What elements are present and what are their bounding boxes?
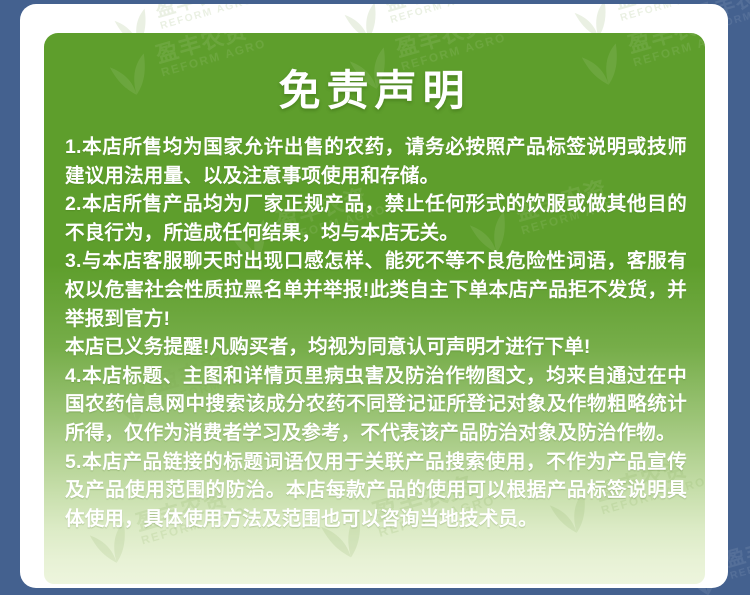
- watermark-cn: 盈丰农资: [153, 4, 251, 22]
- watermark-cn: 盈丰农资: [626, 33, 705, 58]
- watermark-cn: 盈丰农资: [613, 4, 711, 14]
- watermark-en: REFORM AGRO: [389, 4, 484, 26]
- disclaimer-text-block: 1.本店所售均为国家允许出售的农药，请务必按照产品标签说明或技师建议用法用量、以…: [65, 133, 687, 533]
- green-panel: 盈丰农资 REFORM AGRO 盈丰农资 REFORM AGRO: [44, 33, 705, 584]
- page-root: 盈丰农资 REFORM AGRO 盈丰农资 REFORM AGRO: [0, 0, 750, 595]
- watermark-en: REFORM AGRO: [619, 4, 714, 24]
- watermark-en: REFORM AGRO: [159, 4, 254, 32]
- disclaimer-paragraph-1: 1.本店所售均为国家允许出售的农药，请务必按照产品标签说明或技师建议用法用量、以…: [65, 133, 687, 190]
- disclaimer-paragraph-4: 本店已义务提醒!凡购买者，均视为同意认可声明才进行下单!: [65, 333, 687, 362]
- disclaimer-paragraph-2: 2.本店所售产品均为厂家正规产品，禁止任何形式的饮服或做其他目的不良行为，所造成…: [65, 190, 687, 247]
- disclaimer-paragraph-6: 5.本店产品链接的标题词语仅用于关联产品搜索使用，不作为产品宣传及产品使用范围的…: [65, 448, 687, 534]
- page-title: 免责声明: [44, 57, 705, 118]
- watermark-cn: 盈丰农资: [383, 4, 481, 16]
- watermark-en: REFORM AGRO: [729, 545, 750, 582]
- disclaimer-card: 盈丰农资 REFORM AGRO 盈丰农资 REFORM AGRO: [20, 4, 728, 588]
- disclaimer-paragraph-3: 3.与本店客服聊天时出现口感怎样、能死不等不良危险性词语，客服有权以危害社会性质…: [65, 247, 687, 333]
- disclaimer-paragraph-5: 4.本店标题、主图和详情页里病虫害及防治作物图文，均来自通过在中国农药信息网中搜…: [65, 362, 687, 448]
